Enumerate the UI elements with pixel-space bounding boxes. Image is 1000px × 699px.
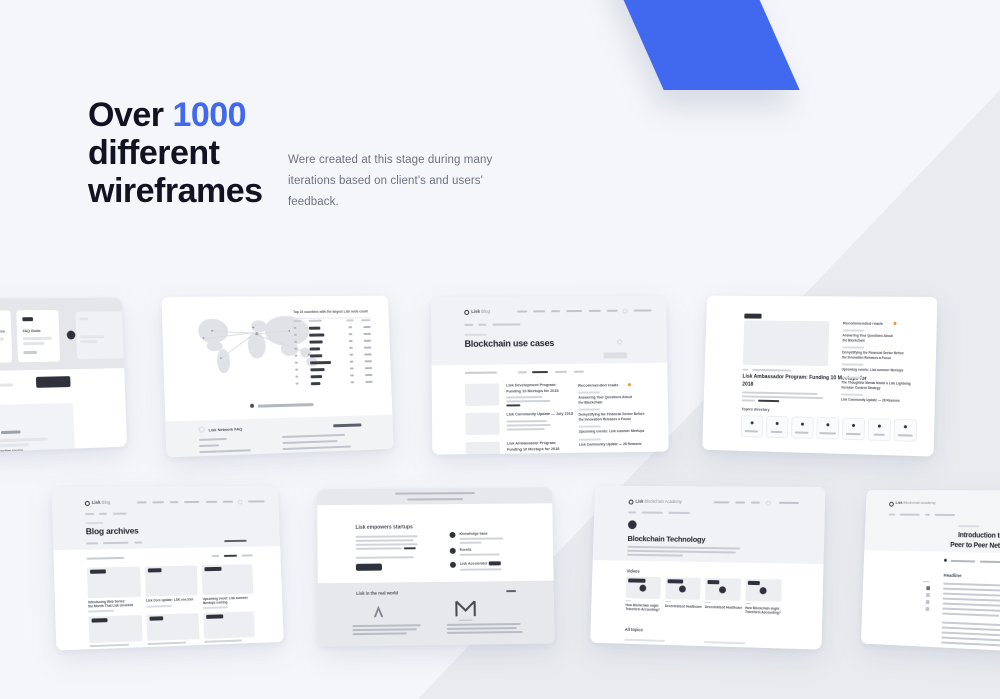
- logo-moneta-icon: [454, 600, 476, 620]
- card-title: Blockchain use cases: [464, 338, 554, 349]
- screenshot-root: Over 1000 different wireframes Were crea…: [0, 0, 1000, 699]
- brand-logo-icon: [464, 310, 469, 315]
- cta-button: [356, 564, 382, 571]
- wireframe-card-blog-archives[interactable]: Lisk Blog Blog archives: [51, 486, 283, 651]
- sidebar-title: Recommended reads: [843, 320, 883, 325]
- headline-line2: different: [88, 134, 263, 172]
- sidebar-title: Recommended reads: [578, 382, 618, 387]
- map-table-title: Top 10 countries with the largest Lisk n…: [293, 309, 368, 314]
- wireframe-card-dashboard[interactable]: Python Resources FAQ Guide Module 1.1: [0, 298, 127, 454]
- section-title: Lisk in the real world: [356, 590, 398, 595]
- brand-name: Lisk Blog: [92, 500, 111, 505]
- wireframe-card-world-map[interactable]: Top 10 countries with the largest Lisk n…: [161, 296, 393, 458]
- page-title: Over 1000 different wireframes: [88, 96, 263, 210]
- blue-parallelogram-icon: [596, 0, 800, 90]
- article-title-line2: Peer to Peer Networks: [950, 540, 1000, 550]
- card-title: Lisk empowers startups: [355, 524, 412, 531]
- badge-new: [489, 561, 501, 565]
- brand-logo-icon: [85, 501, 90, 506]
- section-title: Headline: [943, 573, 961, 578]
- wireframe-card-blockchain-use-cases[interactable]: Lisk Blog Blockchain use cases: [431, 295, 669, 454]
- headline-prefix: Over: [88, 96, 172, 134]
- brand-name: Lisk Blockchain Academy: [896, 501, 936, 505]
- headline-line3: wireframes: [88, 172, 263, 210]
- logo-moosh-icon: [370, 604, 386, 620]
- all-topics-title: All topics: [625, 627, 643, 632]
- headline-number: 1000: [172, 96, 246, 134]
- brand-name: Lisk Blockchain Academy: [635, 499, 681, 504]
- article-title-line1: Introduction to: [958, 530, 1000, 540]
- wireframe-card-blockchain-technology[interactable]: Lisk Blockchain Academy Blockchain Techn…: [590, 486, 825, 650]
- wireframe-card-lisk-empowers-startups[interactable]: Lisk empowers startups Knowledge base Ev…: [317, 487, 555, 646]
- subtitle-paragraph: Were created at this stage during many i…: [288, 150, 498, 213]
- topics-title: Topics directory: [741, 407, 769, 412]
- card-title: Blockchain Technology: [627, 534, 705, 544]
- card-title: Blog archives: [86, 526, 139, 537]
- wireframe-card-ambassador-article[interactable]: Lisk Ambassador Program: Funding 10 Meet…: [702, 296, 937, 457]
- brand-name: Lisk Blog: [471, 309, 490, 314]
- section-title: Videos: [627, 569, 640, 574]
- wireframe-card-p2p-article[interactable]: Lisk Blockchain Academy Introduction to …: [861, 490, 1000, 653]
